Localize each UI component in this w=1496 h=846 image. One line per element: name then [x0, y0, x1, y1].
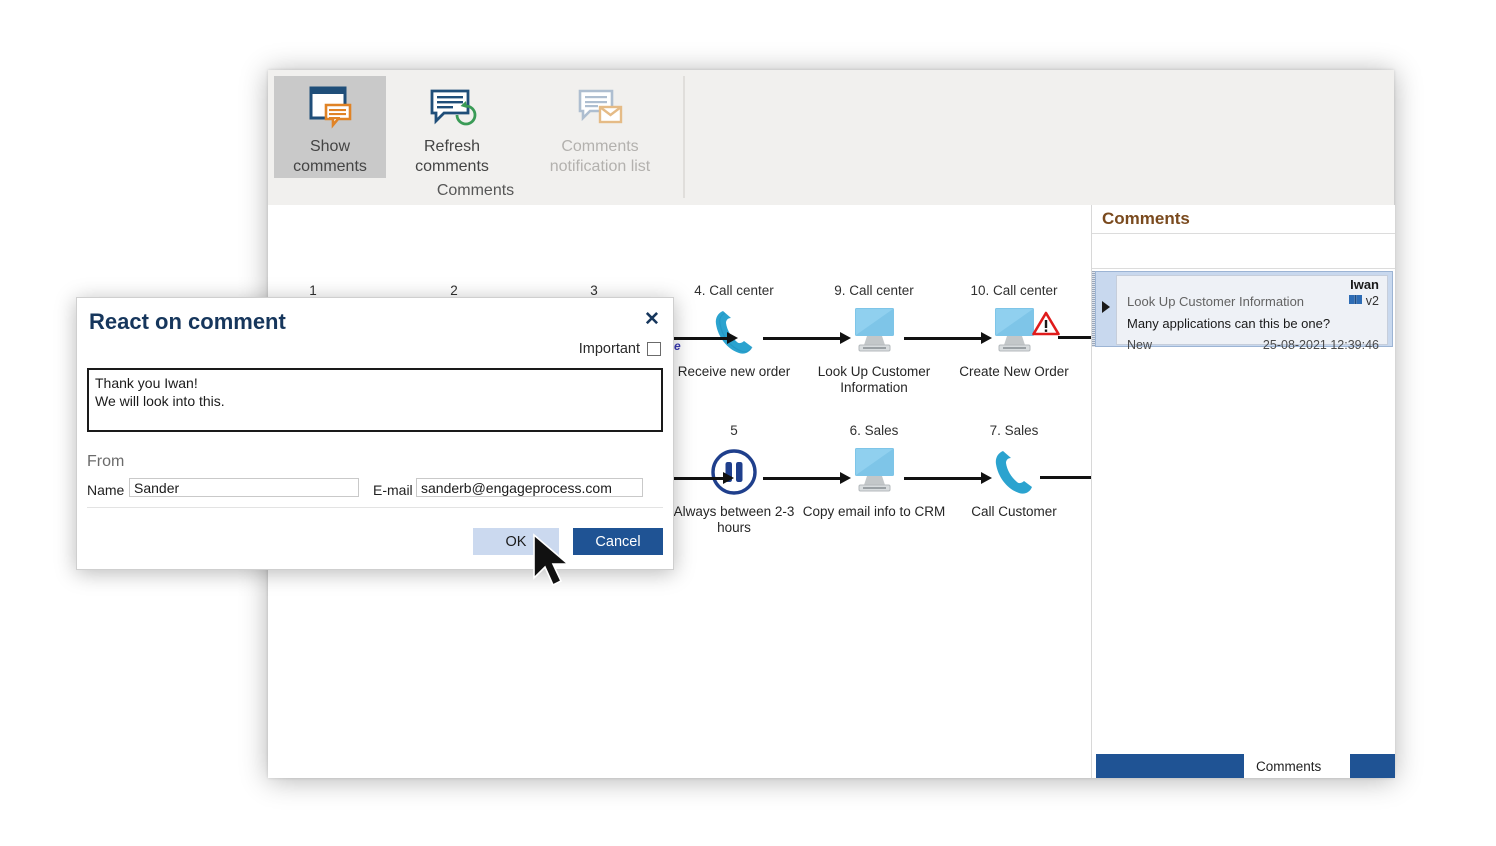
- comments-notification-label-line1: Comments: [561, 137, 638, 157]
- important-label: Important: [579, 341, 640, 357]
- cancel-button[interactable]: Cancel: [573, 528, 663, 555]
- panel-tab-strip: Comments: [1092, 754, 1395, 778]
- comment-status: New: [1127, 338, 1152, 352]
- comment-datetime: 25-08-2021 12:39:46: [1263, 338, 1379, 352]
- comments-panel-title: Comments: [1092, 205, 1395, 234]
- flow-node-10-label: Create New Order: [939, 364, 1089, 380]
- flow-arrow-3-4: [666, 332, 738, 344]
- dialog-divider: [87, 507, 663, 508]
- flow-node-4-label: Receive new order: [659, 364, 809, 380]
- comment-version: v2: [1348, 294, 1379, 308]
- refresh-comments-label-line1: Refresh: [424, 137, 480, 157]
- react-on-comment-dialog: React on comment ✕ Important Thank you I…: [76, 297, 674, 570]
- tab-comments[interactable]: Comments: [1244, 754, 1333, 778]
- book-icon: [1348, 294, 1363, 308]
- flow-line-7-out: [1040, 476, 1092, 479]
- important-checkbox[interactable]: [647, 342, 661, 356]
- comment-list-item[interactable]: Iwan v2 Look Up Customer Information Man…: [1095, 271, 1393, 347]
- flow-node-6-label: Copy email info to CRM: [799, 504, 949, 520]
- comment-version-label: v2: [1366, 294, 1379, 308]
- refresh-comments-button[interactable]: Refresh comments: [396, 76, 508, 178]
- comments-notification-icon: [575, 82, 625, 134]
- show-comments-label-line1: Show: [310, 137, 350, 157]
- tab-strip-fill-right: [1350, 754, 1395, 778]
- flow-node-4-number: 4. Call center: [659, 283, 809, 298]
- refresh-comments-label-line2: comments: [415, 157, 489, 177]
- comment-author: Iwan: [1350, 277, 1379, 292]
- ribbon-toolbar: Show comments Refresh comments: [268, 70, 1394, 206]
- email-label: E-mail: [373, 482, 413, 498]
- from-section-label: From: [87, 453, 124, 471]
- flow-node-1-number: 1: [268, 283, 388, 298]
- flow-node-5-number: 5: [659, 423, 809, 438]
- name-input[interactable]: Sander: [129, 478, 359, 497]
- flow-node-6-number: 6. Sales: [799, 423, 949, 438]
- ribbon-group-label: Comments: [268, 182, 683, 200]
- comments-notification-label-line2: notification list: [550, 157, 651, 177]
- flow-arrow-9-10: [904, 332, 992, 344]
- ok-button[interactable]: OK: [473, 528, 559, 555]
- email-input[interactable]: sanderb@engageprocess.com: [416, 478, 643, 497]
- comments-notification-list-button[interactable]: Comments notification list: [526, 76, 674, 178]
- ribbon-divider: [683, 76, 685, 198]
- flow-arrow-4-9: [763, 332, 851, 344]
- flow-node-10-number: 10. Call center: [939, 283, 1089, 298]
- show-comments-icon: [305, 82, 355, 134]
- flow-node-7-number: 7. Sales: [939, 423, 1089, 438]
- name-label: Name: [87, 482, 124, 498]
- comment-step-name: Look Up Customer Information: [1127, 294, 1304, 309]
- flow-arrow-5-6: [763, 472, 851, 484]
- dialog-title: React on comment: [89, 309, 286, 335]
- comment-text: Many applications can this be one?: [1127, 316, 1330, 331]
- comment-message-textarea[interactable]: Thank you Iwan! We will look into this.: [87, 368, 663, 432]
- flow-arrow-6-7: [904, 472, 992, 484]
- flow-node-7-label: Call Customer: [939, 504, 1089, 520]
- show-comments-button[interactable]: Show comments: [274, 76, 386, 178]
- comments-panel-filter-bar[interactable]: [1092, 235, 1395, 269]
- warning-triangle-icon[interactable]: [1032, 311, 1060, 341]
- comment-card[interactable]: Iwan v2 Look Up Customer Information Man…: [1116, 275, 1388, 345]
- refresh-comments-icon: [427, 82, 477, 134]
- expand-arrow-icon[interactable]: [1102, 301, 1110, 313]
- flow-node-9-number: 9. Call center: [799, 283, 949, 298]
- show-comments-label-line2: comments: [293, 157, 367, 177]
- flow-arrow-in-5: [674, 472, 734, 484]
- tab-strip-fill-left: [1096, 754, 1244, 778]
- flow-node-2-number: 2: [379, 283, 529, 298]
- flow-node-5-label: Always between 2-3 hours: [659, 504, 809, 536]
- comments-side-panel: Comments Iwan v2 Look Up Custome: [1091, 205, 1395, 778]
- important-checkbox-row[interactable]: Important: [579, 341, 661, 357]
- flow-node-9-label: Look Up Customer Information: [799, 364, 949, 396]
- flow-node-3-number: 3: [519, 283, 669, 298]
- close-icon[interactable]: ✕: [641, 308, 663, 330]
